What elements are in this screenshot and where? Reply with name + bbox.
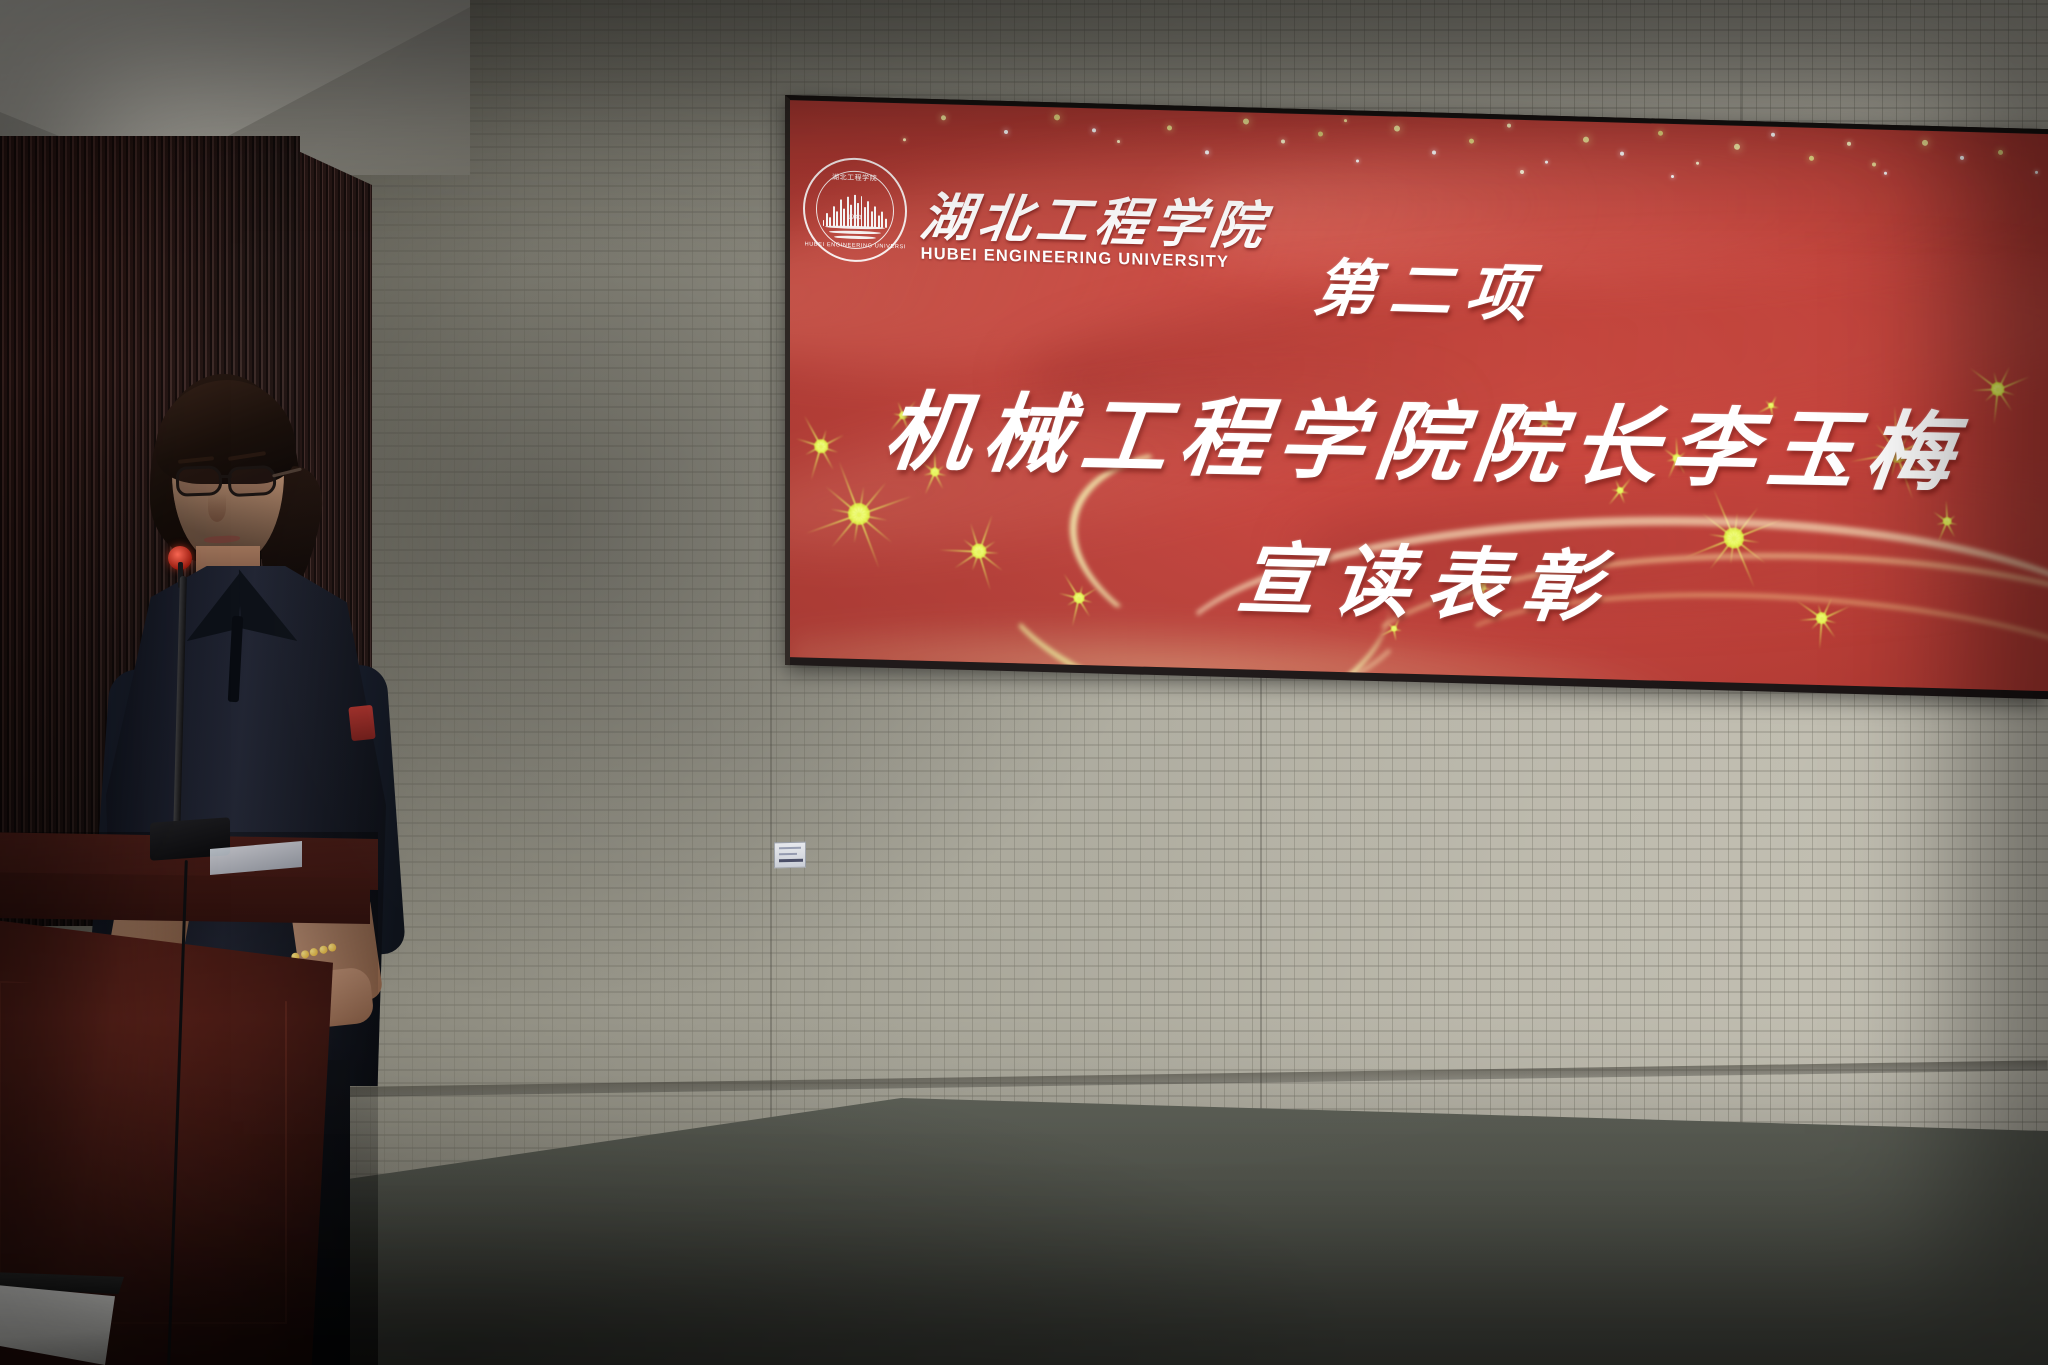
confetti-dot — [1998, 149, 2003, 154]
confetti-dot — [1658, 131, 1663, 136]
confetti-dot — [1696, 161, 1699, 164]
nose — [208, 494, 226, 522]
led-display: 湖北工程学院 1943 HUBEI ENGINEERING UNIVERSITY… — [785, 95, 2048, 699]
seal-skyline-bar — [847, 196, 849, 226]
wall-panel-seam — [770, 0, 772, 1290]
photo-scene: 湖北工程学院 1943 HUBEI ENGINEERING UNIVERSITY… — [0, 0, 2048, 1365]
seal-skyline-bar — [861, 196, 863, 227]
slide-text-block: 第二项 机械工程学院院长李玉梅 宣读表彰 — [790, 223, 2048, 650]
confetti-dot — [1809, 155, 1814, 160]
confetti-dot — [1847, 142, 1851, 146]
slide-headline: 第二项 — [804, 223, 2048, 346]
confetti-dot — [1243, 118, 1249, 124]
lens-left — [175, 465, 222, 497]
confetti-dot — [1545, 161, 1548, 164]
confetti-dot — [1583, 136, 1589, 142]
confetti-dot — [1054, 115, 1060, 121]
seal-skyline-graphic — [823, 192, 887, 228]
confetti-dot — [903, 138, 906, 141]
confetti-dot — [1117, 140, 1120, 143]
confetti-dot — [1281, 139, 1285, 143]
confetti-dot — [1884, 172, 1887, 175]
confetti-dot — [1507, 123, 1511, 127]
confetti-dot — [1432, 151, 1436, 155]
confetti-dot — [1922, 140, 1928, 146]
confetti-dot — [1872, 162, 1876, 166]
confetti-dot — [1469, 139, 1474, 144]
confetti-dot — [1394, 126, 1400, 132]
slide-main-line: 机械工程学院院长李玉梅 — [796, 360, 2048, 510]
confetti-dot — [1004, 130, 1008, 134]
confetti-dot — [1734, 144, 1740, 150]
glasses-bridge — [220, 475, 232, 478]
confetti-dot — [1520, 170, 1524, 174]
sleeve-logo-patch — [348, 705, 375, 741]
seal-skyline-bar — [854, 195, 856, 227]
confetti-dot — [1167, 125, 1172, 130]
eyeglasses — [172, 466, 290, 500]
screen-surface: 湖北工程学院 1943 HUBEI ENGINEERING UNIVERSITY… — [790, 100, 2048, 691]
seal-year: 1943 — [847, 214, 862, 220]
confetti-dot — [1092, 129, 1096, 133]
confetti-dot — [1960, 156, 1964, 160]
seal-skyline-bar — [867, 201, 869, 227]
confetti-dot — [1205, 150, 1209, 154]
confetti-dot — [1318, 131, 1323, 136]
lens-right — [227, 465, 277, 497]
seal-skyline-bar — [840, 199, 842, 226]
wall-label-sticker — [774, 842, 806, 869]
confetti-dot — [941, 115, 946, 120]
slide-sub-line: 宣读表彰 — [801, 504, 2048, 649]
confetti-dot — [2035, 171, 2038, 174]
confetti-dot — [1771, 132, 1775, 136]
confetti-dot — [1356, 160, 1359, 163]
confetti-dot — [1671, 175, 1674, 178]
confetti-dot — [1620, 152, 1624, 156]
seal-top-arc-text: 湖北工程学院 — [805, 171, 905, 184]
confetti-dot — [1344, 119, 1347, 122]
